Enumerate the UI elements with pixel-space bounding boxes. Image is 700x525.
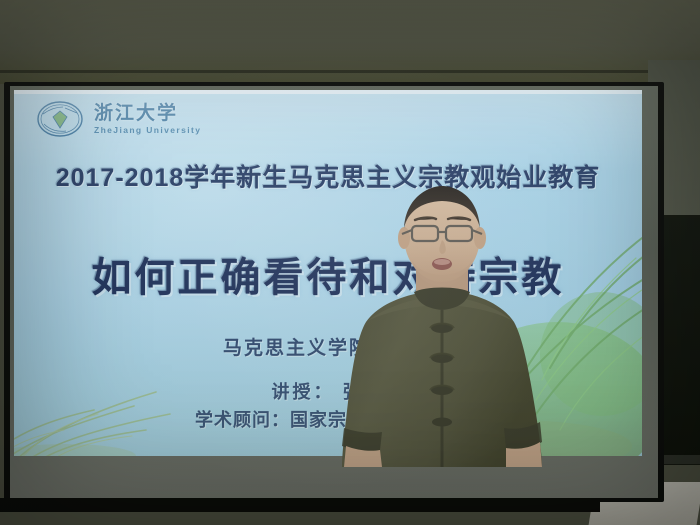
screen-frame-bottom <box>0 498 600 512</box>
slide-logo: 浙江大学 ZheJiang University <box>36 100 201 138</box>
wall-seam <box>0 70 700 73</box>
zhejiang-university-seal-icon <box>36 100 84 138</box>
photo-scene: 浙江大学 ZheJiang University 2017-2018学年新生马克… <box>0 0 700 525</box>
logo-institution-cn: 浙江大学 <box>94 104 201 123</box>
lecturer-figure <box>330 182 555 467</box>
slide-top-highlight <box>14 90 642 94</box>
logo-institution-en: ZheJiang University <box>94 126 201 135</box>
